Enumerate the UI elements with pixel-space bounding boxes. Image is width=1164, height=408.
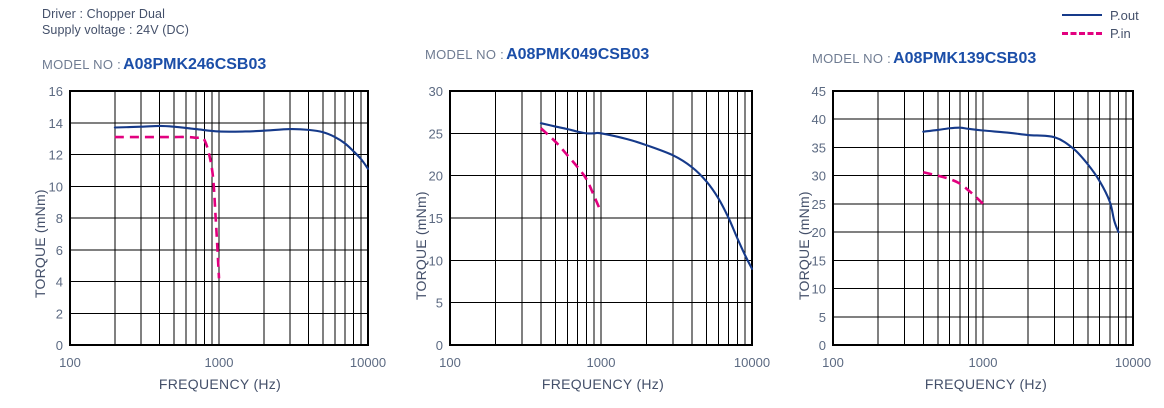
svg-text:35: 35 <box>812 140 826 155</box>
svg-text:5: 5 <box>819 310 826 325</box>
svg-text:6: 6 <box>56 243 63 258</box>
svg-text:25: 25 <box>429 126 443 141</box>
svg-text:5: 5 <box>436 296 443 311</box>
svg-text:16: 16 <box>49 84 63 99</box>
series-p-out <box>115 126 368 169</box>
plot-area-1: 0246810121416100100010000 <box>0 0 400 408</box>
svg-text:20: 20 <box>812 225 826 240</box>
svg-text:30: 30 <box>812 169 826 184</box>
svg-text:0: 0 <box>56 338 63 353</box>
svg-text:15: 15 <box>812 253 826 268</box>
svg-text:15: 15 <box>429 211 443 226</box>
svg-text:40: 40 <box>812 112 826 127</box>
svg-text:1000: 1000 <box>205 355 234 370</box>
svg-text:2: 2 <box>56 306 63 321</box>
svg-text:1000: 1000 <box>587 355 616 370</box>
svg-text:45: 45 <box>812 84 826 99</box>
svg-text:10: 10 <box>429 253 443 268</box>
svg-text:10000: 10000 <box>350 355 386 370</box>
svg-text:100: 100 <box>439 355 461 370</box>
svg-text:10: 10 <box>812 282 826 297</box>
svg-text:4: 4 <box>56 275 63 290</box>
svg-text:1000: 1000 <box>969 355 998 370</box>
plot-area-2: 051015202530100100010000 <box>383 0 783 408</box>
svg-text:8: 8 <box>56 211 63 226</box>
chart-panel-2: TORQUE (mNm) FREQUENCY (Hz) 051015202530… <box>383 0 783 408</box>
svg-text:100: 100 <box>822 355 844 370</box>
svg-text:14: 14 <box>49 116 63 131</box>
svg-text:10000: 10000 <box>734 355 770 370</box>
svg-text:10000: 10000 <box>1115 355 1151 370</box>
series-p-in <box>541 128 601 212</box>
svg-text:20: 20 <box>429 169 443 184</box>
svg-text:100: 100 <box>59 355 81 370</box>
svg-text:10: 10 <box>49 179 63 194</box>
chart-panel-1: TORQUE (mNm) FREQUENCY (Hz) 024681012141… <box>0 0 400 408</box>
svg-text:0: 0 <box>436 338 443 353</box>
chart-panel-3: TORQUE (mNm) FREQUENCY (Hz) 051015202530… <box>766 0 1164 408</box>
plot-area-3: 051015202530354045100100010000 <box>766 0 1164 408</box>
svg-text:0: 0 <box>819 338 826 353</box>
svg-text:12: 12 <box>49 148 63 163</box>
torque-frequency-chart-sheet: Driver : Chopper Dual Supply voltage : 2… <box>0 0 1164 408</box>
svg-text:30: 30 <box>429 84 443 99</box>
series-p-in <box>923 172 983 204</box>
series-p-in <box>115 137 219 278</box>
svg-text:25: 25 <box>812 197 826 212</box>
